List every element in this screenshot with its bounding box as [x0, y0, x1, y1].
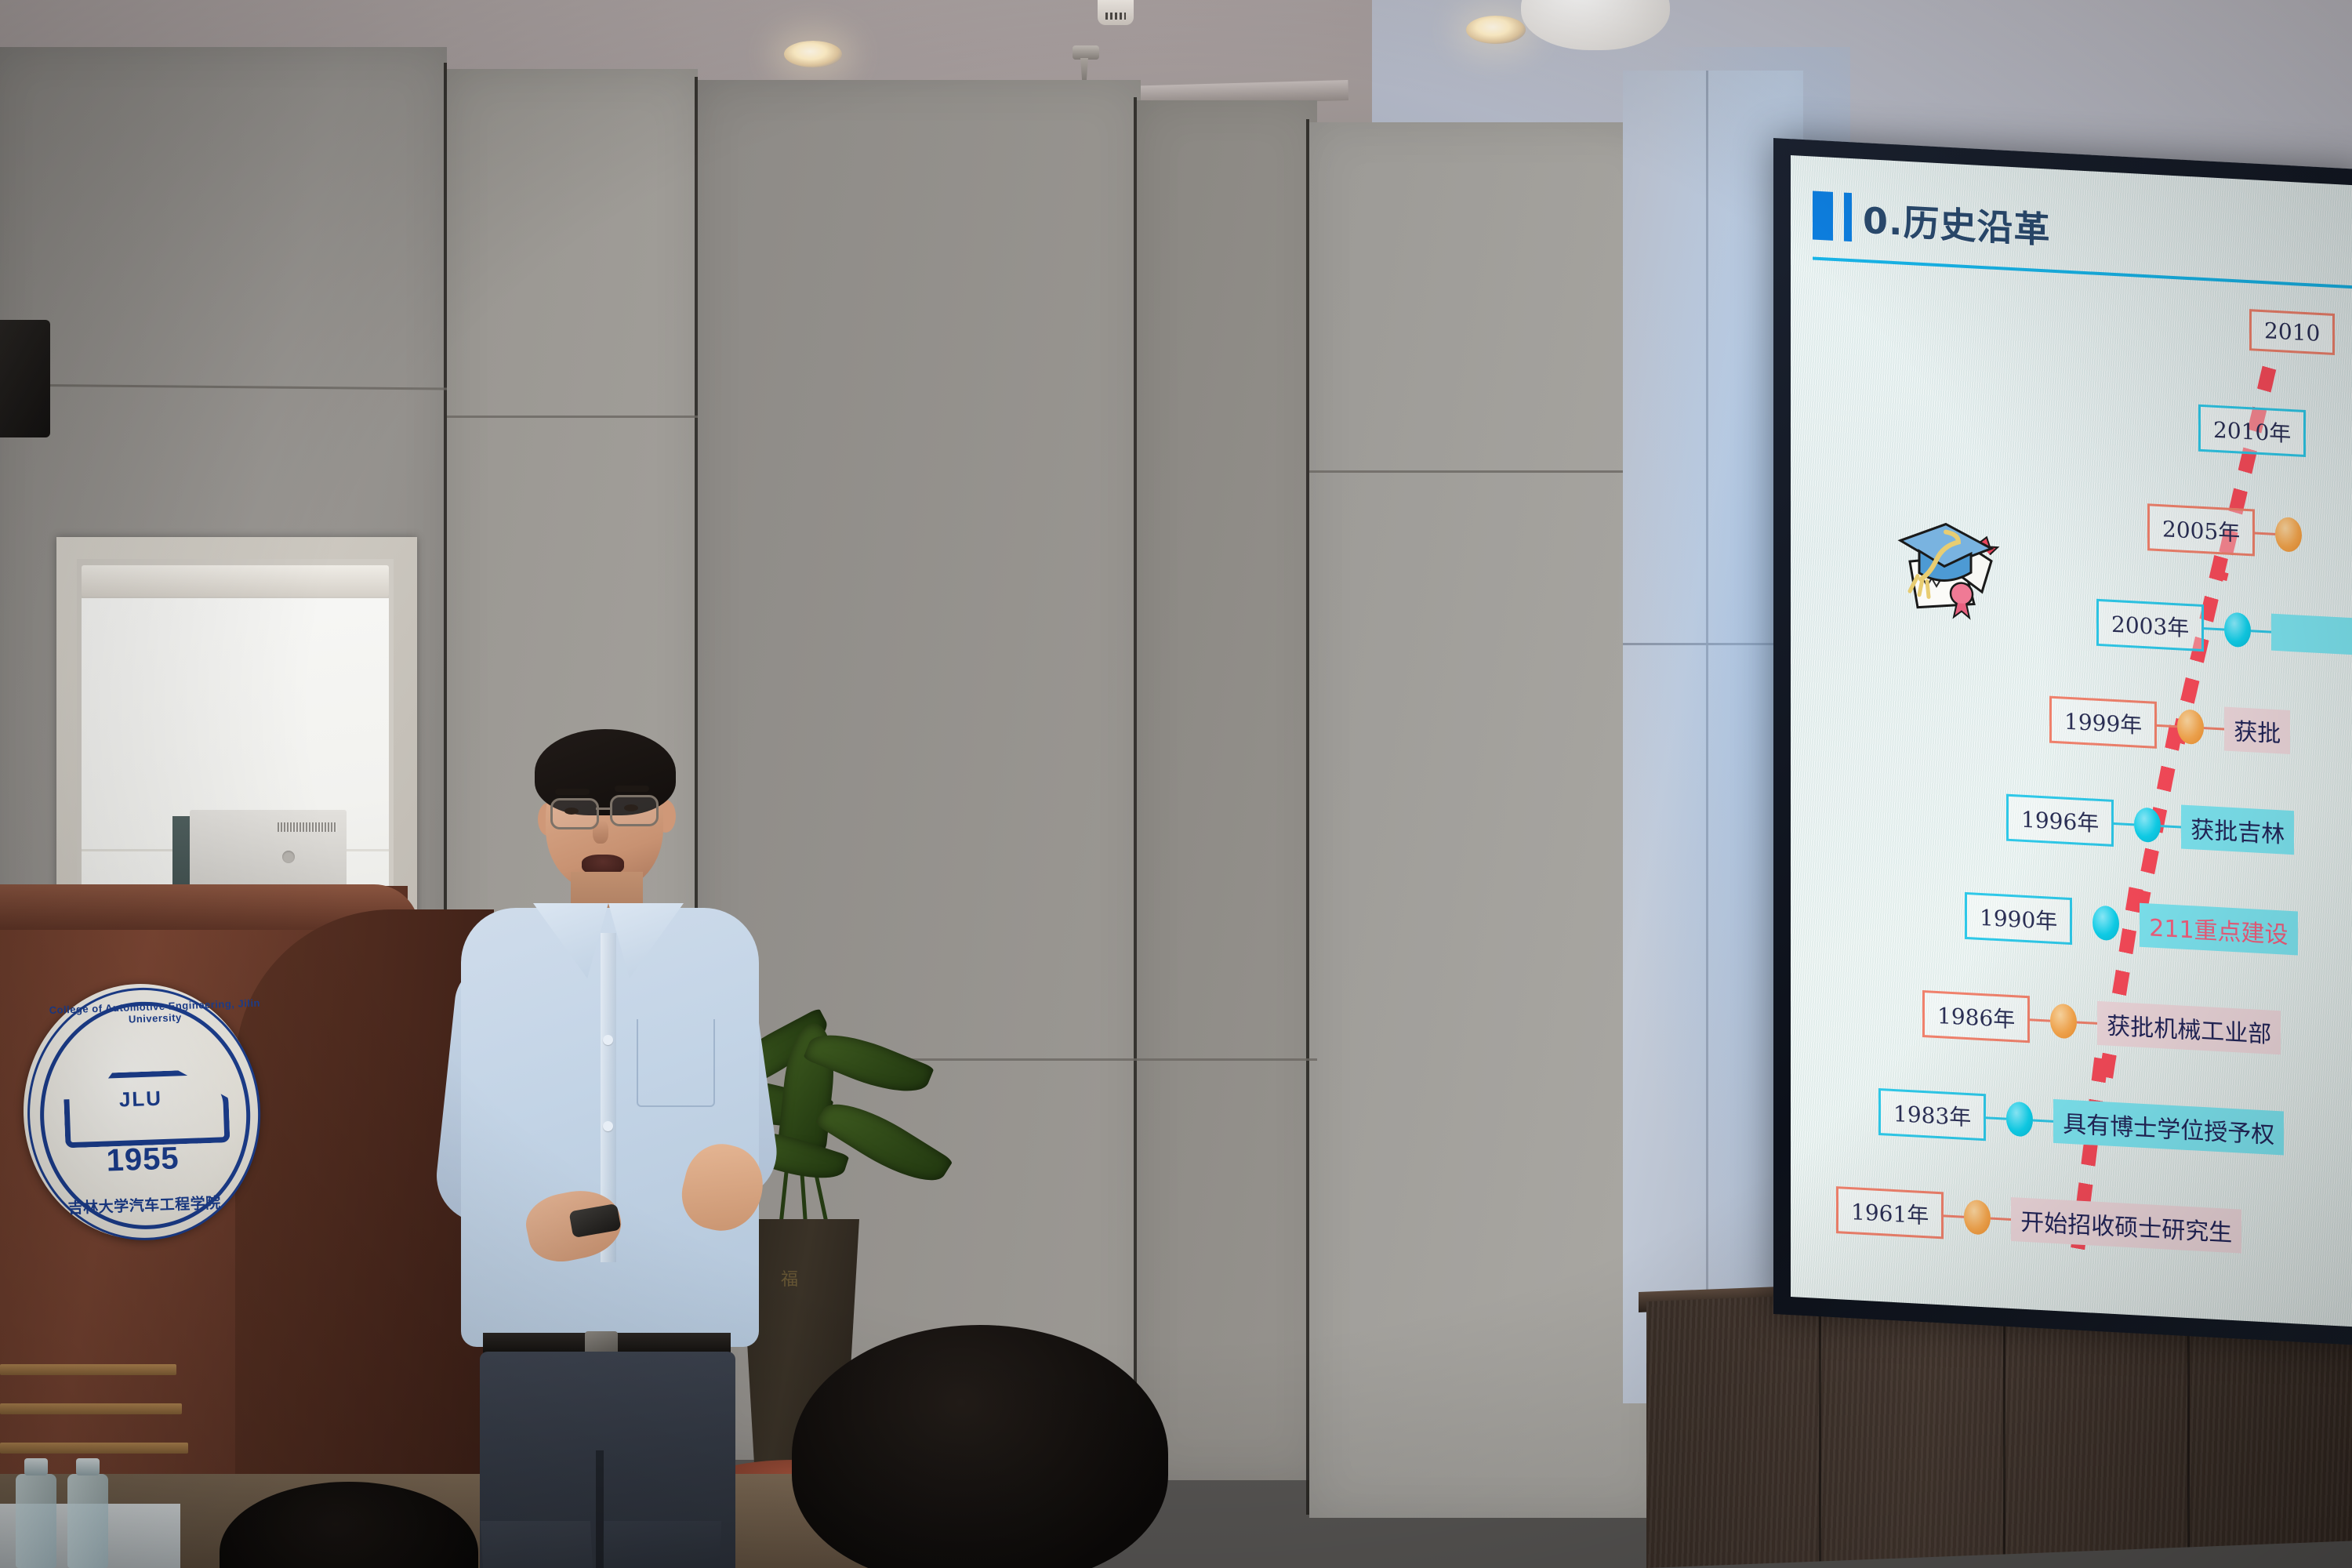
panel-seam — [447, 416, 698, 418]
timeline-node-dot — [1964, 1200, 1991, 1236]
timeline-connector — [2204, 727, 2224, 730]
bottle-cap — [76, 1458, 100, 1475]
eyebrow — [555, 789, 590, 795]
timeline-year-label: 1983年 — [1878, 1088, 1986, 1141]
timeline-connector — [2072, 920, 2092, 924]
timeline-year-label: 1986年 — [1922, 990, 2030, 1043]
nose — [593, 820, 608, 844]
eye — [564, 808, 579, 815]
timeline-row: 1983年 具有博士学位授予权 — [1878, 1088, 2284, 1157]
presentation-slide: 0.历史沿革 — [1791, 155, 2352, 1327]
right-leg — [601, 1521, 721, 1568]
trouser-seam — [596, 1450, 604, 1568]
water-bottle — [67, 1474, 108, 1568]
timeline-row: 2010年 — [2198, 405, 2306, 457]
lectern-trim — [0, 1443, 188, 1454]
eyeglasses-bridge — [596, 808, 610, 810]
timeline-year-label: 2003年 — [2096, 599, 2204, 652]
cabinet-door-seam — [1819, 1294, 1821, 1561]
shirt-button — [603, 1121, 613, 1131]
timeline-description: 具有博士学位授予权 — [2053, 1099, 2284, 1156]
timeline-connector — [2204, 627, 2224, 630]
history-timeline: 2010 2010年 2005年 2003年 — [1791, 155, 2352, 1327]
timeline-connector — [2114, 822, 2134, 825]
timeline-connector — [2030, 1018, 2050, 1022]
timeline-connector — [2255, 532, 2275, 535]
timeline-row: 2003年 — [2096, 599, 2352, 660]
timeline-row: 1996年 获批吉林 — [2006, 794, 2294, 857]
eyebrow — [615, 786, 649, 792]
panel-seam — [1309, 470, 1662, 473]
wall-speaker-box — [0, 320, 50, 437]
timeline-description: 获批 — [2224, 706, 2290, 753]
smoke-detector-dome-icon — [1098, 0, 1134, 25]
timeline-connector — [1944, 1214, 1964, 1218]
right-wall-seam — [1706, 71, 1708, 1403]
audience-silhouette — [792, 1325, 1168, 1568]
timeline-row: 1990年 211重点建设 — [1965, 892, 2298, 957]
timeline-connector — [1991, 1217, 2011, 1220]
shirt-button — [603, 1035, 613, 1045]
left-leg — [481, 1521, 595, 1568]
timeline-connector — [2119, 923, 2140, 926]
timeline-connector — [2161, 825, 2181, 828]
eye — [624, 804, 638, 811]
timeline-connector — [1986, 1116, 2006, 1120]
bottle-cap — [24, 1458, 48, 1475]
timeline-row: 1999年 获批 — [2049, 696, 2290, 756]
timeline-node-dot — [2224, 612, 2251, 648]
lecture-hall-scene: College of Automotive Engineering, Jilin… — [0, 0, 2352, 1568]
timeline-year-label: 1961年 — [1836, 1186, 1944, 1239]
timeline-node-dot — [2134, 807, 2161, 843]
timeline-year-label: 1990年 — [1965, 892, 2072, 945]
timeline-year-label: 1999年 — [2049, 696, 2157, 749]
shirt-pocket — [637, 1019, 715, 1107]
timeline-connector — [2033, 1119, 2053, 1122]
timeline-node-dot — [2275, 517, 2302, 553]
equipment-vent — [278, 822, 337, 832]
wall-panel — [1137, 100, 1317, 1480]
lectern-trim — [0, 1364, 176, 1375]
equipment-knob — [282, 851, 295, 863]
timeline-year-label: 2010 — [2249, 309, 2335, 355]
timeline-row: 2010 — [2249, 309, 2335, 355]
downlight-icon — [1466, 16, 1526, 44]
timeline-connector — [2157, 724, 2177, 727]
timeline-connector — [2251, 630, 2271, 633]
timeline-description — [2271, 613, 2352, 655]
timeline-description: 获批吉林 — [2181, 805, 2294, 855]
timeline-node-dot — [2177, 709, 2204, 745]
cabinet-door-seam — [2003, 1287, 2005, 1554]
timeline-row: 1986年 获批机械工业部 — [1922, 990, 2281, 1056]
timeline-connector — [2077, 1021, 2097, 1024]
panel-seam — [1306, 119, 1309, 1515]
timeline-row: 2005年 — [2147, 503, 2302, 559]
timeline-description: 获批机械工业部 — [2097, 1001, 2281, 1054]
timeline-year-label: 1996年 — [2006, 794, 2114, 847]
timeline-row: 1961年 开始招收硕士研究生 — [1836, 1186, 2241, 1255]
water-bottle — [16, 1474, 56, 1568]
timeline-node-dot — [2092, 906, 2119, 942]
college-emblem: College of Automotive Engineering, Jilin… — [19, 980, 263, 1243]
presenter — [439, 706, 800, 1568]
display-screen[interactable]: 0.历史沿革 — [1791, 155, 2352, 1327]
panel-seam — [1134, 97, 1137, 1477]
timeline-year-label: 2005年 — [2147, 503, 2255, 556]
timeline-year-label: 2010年 — [2198, 405, 2306, 457]
lectern-trim — [0, 1403, 182, 1414]
timeline-node-dot — [2050, 1004, 2077, 1040]
timeline-node-dot — [2006, 1102, 2033, 1138]
timeline-description: 开始招收硕士研究生 — [2011, 1197, 2241, 1254]
timeline-description: 211重点建设 — [2140, 903, 2297, 956]
wall-panel — [1309, 122, 1662, 1518]
window-blind — [82, 565, 389, 597]
